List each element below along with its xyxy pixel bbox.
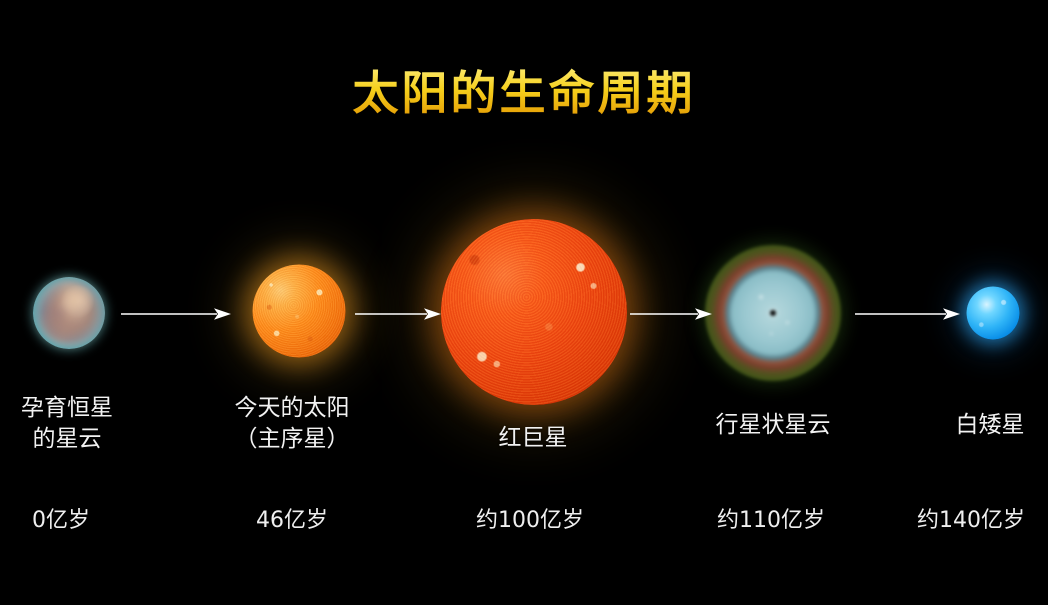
stage-label-planetary-nebula: 行星状星云 <box>716 410 831 441</box>
arrow-planetary-nebula-to-white-dwarf <box>855 306 960 322</box>
white-dwarf-orb <box>967 287 1020 340</box>
stage-label-planetary-nebula-line1: 行星状星云 <box>716 410 831 441</box>
white-dwarf-sphere <box>967 287 1020 340</box>
arrow-nebula-to-sun <box>121 306 231 322</box>
red-giant-orb <box>441 219 627 405</box>
stage-label-red-giant: 红巨星 <box>499 423 568 454</box>
stage-label-nebula: 孕育恒星 的星云 <box>21 393 113 455</box>
stage-label-main-sequence-line1: 今天的太阳 <box>235 393 350 424</box>
sun-lifecycle-diagram: 孕育恒星 的星云 今天的太阳 （主序星） 红巨星 行星状星云 白矮星 0亿岁 4… <box>0 0 1048 605</box>
stage-label-main-sequence-line2: （主序星） <box>235 424 350 455</box>
arrow-sun-to-red-giant <box>355 306 441 322</box>
planetary-nebula-orb <box>705 245 841 381</box>
nebula-sphere <box>33 277 105 349</box>
star-forming-nebula-orb <box>33 277 105 349</box>
planetary-nebula-shells <box>705 245 841 381</box>
stage-label-nebula-line2: 的星云 <box>21 424 113 455</box>
stage-age-white-dwarf: 约140亿岁 <box>917 507 1025 535</box>
main-sequence-sun-orb <box>253 265 346 358</box>
stage-age-main-sequence: 46亿岁 <box>256 507 328 535</box>
stage-age-planetary-nebula: 约110亿岁 <box>717 507 825 535</box>
sun-sphere <box>253 265 346 358</box>
stage-label-main-sequence: 今天的太阳 （主序星） <box>235 393 350 455</box>
stage-age-nebula: 0亿岁 <box>32 507 90 535</box>
red-giant-sphere <box>441 219 627 405</box>
stage-label-red-giant-line1: 红巨星 <box>499 423 568 454</box>
stage-label-white-dwarf: 白矮星 <box>956 410 1025 441</box>
stage-label-white-dwarf-line1: 白矮星 <box>956 410 1025 441</box>
stage-label-nebula-line1: 孕育恒星 <box>21 393 113 424</box>
stage-age-red-giant: 约100亿岁 <box>476 507 584 535</box>
arrow-red-giant-to-planetary-nebula <box>630 306 712 322</box>
